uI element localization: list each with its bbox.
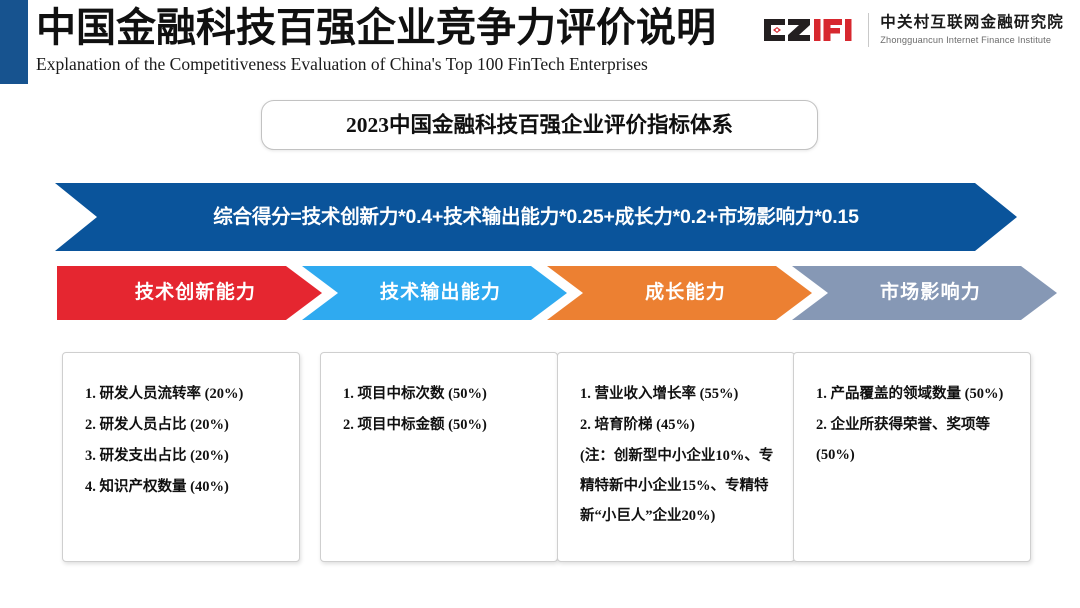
dimension-chevron-tech-innovation[interactable]: 技术创新能力	[57, 266, 322, 320]
logo-text-block: 中关村互联网金融研究院 Zhongguancun Internet Financ…	[880, 14, 1064, 46]
dimension-card-market-influence: 1. 产品覆盖的领域数量 (50%) 2. 企业所获得荣誉、奖项等 (50%)	[793, 352, 1031, 562]
card-item: 1. 产品覆盖的领域数量 (50%)	[816, 379, 1018, 410]
organization-logo: 中关村互联网金融研究院 Zhongguancun Internet Financ…	[762, 9, 1064, 51]
dimension-chevron-label: 技术输出能力	[380, 281, 501, 305]
dimension-chevron-label: 技术创新能力	[135, 281, 256, 305]
dimension-cards-row: 1. 研发人员流转率 (20%) 2. 研发人员占比 (20%) 3. 研发支出…	[0, 352, 1080, 562]
logo-divider	[868, 13, 869, 47]
dimension-card-tech-output: 1. 项目中标次数 (50%) 2. 项目中标金额 (50%)	[320, 352, 558, 562]
card-note: (注：创新型中小企业10%、专精特新中小企业15%、专精特新“小巨人”企业20%…	[580, 441, 782, 531]
title-block: 中国金融科技百强企业竞争力评价说明 Explanation of the Com…	[36, 4, 736, 75]
logo-name-english: Zhongguancun Internet Finance Institute	[880, 34, 1064, 46]
dimension-chevron-row: 技术创新能力 技术输出能力 成长能力 市场影响力	[0, 266, 1080, 320]
dimension-chevron-growth[interactable]: 成长能力	[547, 266, 812, 320]
card-item: 1. 项目中标次数 (50%)	[343, 379, 545, 410]
card-item: 4. 知识产权数量 (40%)	[85, 472, 287, 503]
logo-name-chinese: 中关村互联网金融研究院	[880, 14, 1064, 32]
dimension-chevron-label: 成长能力	[645, 281, 726, 305]
card-item: 2. 培育阶梯 (45%)	[580, 410, 782, 441]
card-item: 2. 企业所获得荣誉、奖项等 (50%)	[816, 410, 1018, 470]
dimension-card-tech-innovation: 1. 研发人员流转率 (20%) 2. 研发人员占比 (20%) 3. 研发支出…	[62, 352, 300, 562]
page-subtitle-english: Explanation of the Competitiveness Evalu…	[36, 53, 736, 75]
czifi-logo-icon	[762, 15, 858, 45]
page-header: 中国金融科技百强企业竞争力评价说明 Explanation of the Com…	[0, 0, 1080, 92]
card-item: 3. 研发支出占比 (20%)	[85, 441, 287, 472]
dimension-chevron-market-influence[interactable]: 市场影响力	[792, 266, 1057, 320]
card-item: 1. 营业收入增长率 (55%)	[580, 379, 782, 410]
card-item: 2. 项目中标金额 (50%)	[343, 410, 545, 441]
page-title: 中国金融科技百强企业竞争力评价说明	[36, 4, 736, 52]
header-accent-bar	[0, 0, 28, 84]
dimension-card-growth: 1. 营业收入增长率 (55%) 2. 培育阶梯 (45%) (注：创新型中小企…	[557, 352, 795, 562]
indicator-system-title: 2023中国金融科技百强企业评价指标体系	[346, 112, 733, 138]
score-formula-text: 综合得分=技术创新力*0.4+技术输出能力*0.25+成长力*0.2+市场影响力…	[213, 205, 859, 229]
score-formula-banner: 综合得分=技术创新力*0.4+技术输出能力*0.25+成长力*0.2+市场影响力…	[55, 183, 1017, 251]
dimension-chevron-tech-output[interactable]: 技术输出能力	[302, 266, 567, 320]
dimension-chevron-label: 市场影响力	[880, 281, 981, 305]
indicator-system-title-box: 2023中国金融科技百强企业评价指标体系	[261, 100, 818, 150]
card-item: 2. 研发人员占比 (20%)	[85, 410, 287, 441]
card-item: 1. 研发人员流转率 (20%)	[85, 379, 287, 410]
